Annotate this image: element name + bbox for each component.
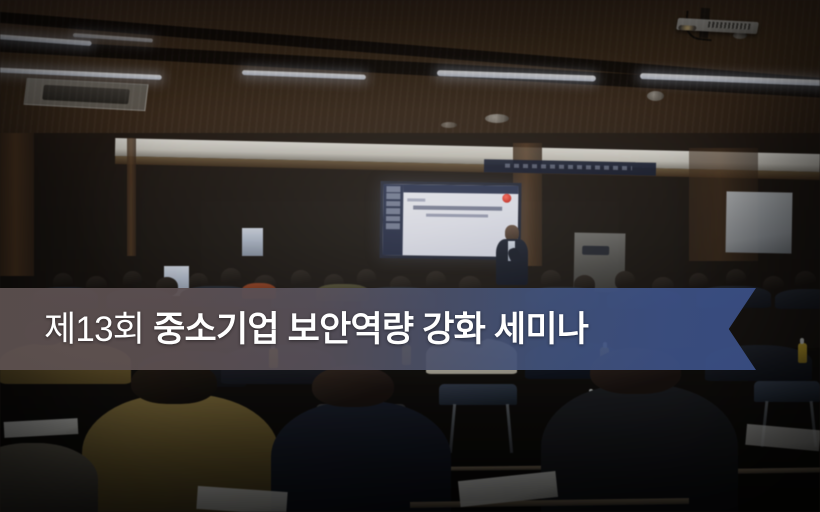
slide-subheading xyxy=(427,213,489,217)
projector-grill xyxy=(708,22,751,30)
audience-head xyxy=(123,271,142,289)
drink-bottle xyxy=(798,343,807,363)
fluorescent-tube-icon xyxy=(436,70,596,82)
audience-head xyxy=(291,270,311,289)
projector-mount xyxy=(699,7,710,38)
navy-suit-attendee xyxy=(271,401,451,512)
fluorescent-tube-icon xyxy=(0,65,162,80)
projector-lens-icon xyxy=(678,25,697,31)
chair-leg xyxy=(506,404,513,453)
ceiling-dome-icon xyxy=(485,114,509,123)
fluorescent-tube-icon xyxy=(242,70,366,80)
audience-body xyxy=(775,289,820,310)
seminar-audience-foreground xyxy=(0,348,820,512)
ceiling-dome-icon xyxy=(647,91,664,101)
banner-edition-label: 제13회 xyxy=(44,310,144,349)
fluorescent-tube-icon xyxy=(640,73,820,87)
ceiling-ac-cassette xyxy=(23,78,148,112)
ceiling-beam xyxy=(0,34,820,105)
seminar-photo xyxy=(0,0,820,512)
audience-head xyxy=(426,271,446,290)
slide-logo-icon xyxy=(503,193,512,202)
stacking-chair xyxy=(439,384,517,405)
attendee-head xyxy=(312,365,394,408)
slide-tag xyxy=(408,198,426,201)
audience-head xyxy=(726,269,747,288)
stacking-chair xyxy=(754,381,820,402)
banner-main-title: 중소기업 보안역량 강화 세미나 xyxy=(153,310,588,349)
ceiling-beam xyxy=(0,5,820,100)
handout-paper xyxy=(745,424,820,452)
slide-topbar xyxy=(404,184,519,193)
slide-heading xyxy=(413,205,502,210)
fluorescent-tube-icon xyxy=(73,33,153,43)
dark-suit-attendee xyxy=(541,384,738,512)
chair-leg xyxy=(449,404,456,453)
banner-title: 제13회중소기업 보안역량 강화 세미나 xyxy=(44,312,588,347)
ceiling-dome-icon xyxy=(733,32,747,39)
screenshot-root: 제13회중소기업 보안역량 강화 세미나 xyxy=(0,0,820,512)
audience-head xyxy=(615,271,635,290)
seminar-title-banner: 제13회중소기업 보안역량 강화 세미나 xyxy=(0,288,756,370)
audience-head xyxy=(795,271,816,290)
audience-head xyxy=(221,268,241,287)
handout-paper xyxy=(4,418,79,438)
ceiling-dome-icon xyxy=(441,122,457,128)
audience-head xyxy=(541,270,561,289)
fluorescent-tube-icon xyxy=(0,30,91,46)
projector-cable xyxy=(683,10,714,41)
ceiling-projector xyxy=(676,18,759,34)
